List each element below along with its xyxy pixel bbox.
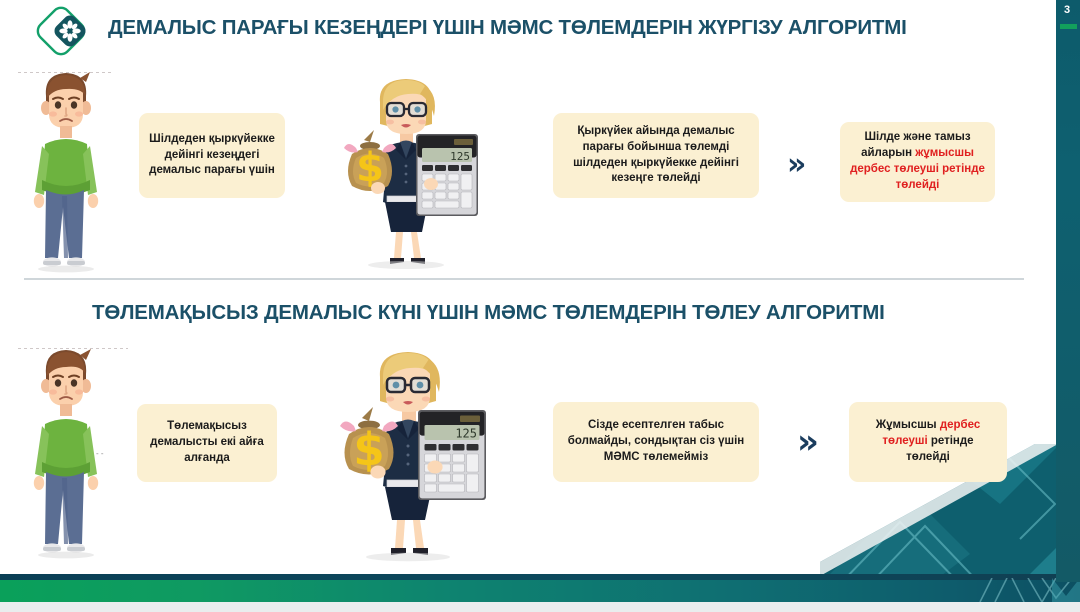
callout-text-mixed: Шілде және тамыз айларын жұмысшы дербес … [850, 130, 985, 193]
callout-box-2-2: Сізде есептелген табыс болмайды, сондықт… [553, 402, 759, 482]
section-2-title: ТӨЛЕМАҚЫСЫЗ ДЕМАЛЫС КҮНІ ҮШІН МӘМС ТӨЛЕМ… [92, 301, 885, 325]
sad-man-illustration-bottom [18, 338, 114, 566]
chevron-arrow-2: » [797, 425, 819, 459]
bottom-page-margin [0, 602, 1080, 612]
callout-box-1-1: Шілдеден қыркүйекке дейінгі кезеңдегі де… [139, 113, 285, 198]
businesswoman-illustration-bottom: $ 125 [325, 344, 491, 562]
callout-box-2-3: Жұмысшы дербес төлеуші ретінде төлейді [849, 402, 1007, 482]
page-number: 3 [1058, 4, 1076, 16]
sad-man-illustration-top [18, 62, 114, 278]
businesswoman-illustration-top: $ 125 [330, 72, 482, 270]
organization-logo [26, 3, 96, 59]
section-divider [24, 278, 1024, 280]
callout-text: Сізде есептелген табыс болмайды, сондықт… [563, 418, 749, 466]
right-side-rail [1056, 0, 1080, 582]
page-accent-dash [1060, 24, 1077, 29]
callout-text: Төлемақысыз демалысты екі айға алғанда [147, 419, 267, 467]
callout-box-1-3: Шілде және тамыз айларын жұмысшы дербес … [840, 122, 995, 202]
callout-box-1-2: Қыркүйек айында демалыс парағы бойынша т… [553, 113, 759, 198]
calculator-display: 125 [450, 150, 470, 163]
slide-canvas: ДЕМАЛЫС ПАРАҒЫ КЕЗЕҢДЕРІ ҮШІН МӘМС ТӨЛЕМ… [0, 0, 1080, 612]
callout-text: Шілдеден қыркүйекке дейінгі кезеңдегі де… [149, 132, 275, 180]
chevron-arrow-1: » [787, 150, 806, 180]
section-1-title: ДЕМАЛЫС ПАРАҒЫ КЕЗЕҢДЕРІ ҮШІН МӘМС ТӨЛЕМ… [108, 16, 907, 40]
callout-box-2-1: Төлемақысыз демалысты екі айға алғанда [137, 404, 277, 482]
callout-text: Қыркүйек айында демалыс парағы бойынша т… [563, 124, 749, 187]
callout-text-mixed: Жұмысшы дербес төлеуші ретінде төлейді [859, 418, 997, 466]
callout-part-plain: Жұмысшы [876, 419, 940, 431]
calculator-display-bottom: 125 [455, 427, 477, 441]
bottom-gradient-bar [0, 580, 1080, 602]
